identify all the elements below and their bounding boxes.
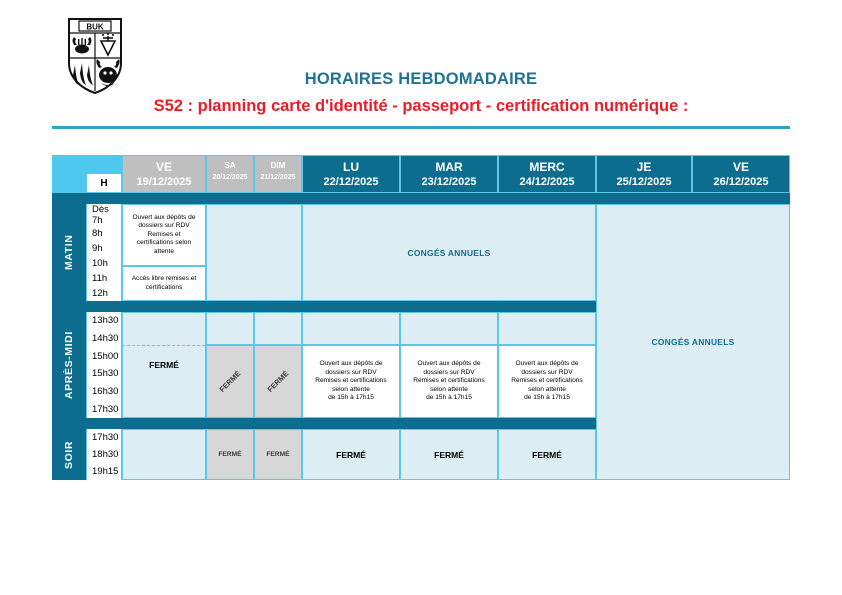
soir-dim-ferme-cell: FERMÉ	[254, 429, 302, 480]
title-main: HORAIRES HEBDOMADAIRE	[0, 70, 842, 89]
line: de 15h à 17h15	[524, 394, 570, 403]
hour-cell: 17h30	[87, 400, 121, 418]
matin-weekend-cell	[206, 204, 302, 301]
header-col-mar-23: MAR 23/12/2025	[400, 155, 498, 193]
soir-mar-ferme-cell: FERMÉ	[400, 429, 498, 480]
pm-merc-ouvert-cell: Ouvert aux dépôts de dossiers sur RDV Re…	[498, 345, 596, 418]
svg-text:BUK: BUK	[86, 23, 104, 32]
soir-ve19-cell	[122, 429, 206, 480]
hour-cell: 12h	[87, 286, 121, 301]
hour-cell: 10h	[87, 256, 121, 271]
ferme-label: FERMÉ	[206, 345, 254, 418]
line: Remises et certifications	[413, 377, 484, 386]
line: Accès libre remises et	[132, 275, 197, 284]
line: Remises et	[148, 231, 181, 240]
soir-label: SOIR	[52, 429, 86, 480]
line: dossiers sur RDV	[325, 369, 376, 378]
pm-sa-ferme-cell: FERMÉ	[206, 345, 254, 418]
hour-column-header: H	[86, 173, 122, 193]
section-label-apres-midi: APRÈS-MIDI	[52, 312, 86, 418]
matin-label: MATIN	[52, 204, 86, 301]
hour-cell: 17h30	[87, 429, 121, 446]
matin-pm-separator-band	[52, 301, 596, 312]
line: certifications selon	[137, 239, 191, 248]
header-date: 19/12/2025	[123, 175, 205, 190]
header-col-sa-20: SA 20/12/2025	[206, 155, 254, 193]
header-day: DIM	[255, 156, 301, 172]
header-date: 24/12/2025	[499, 175, 595, 190]
soir-hour-column: 17h30 18h30 19h15	[86, 429, 122, 480]
line: dossiers sur RDV	[521, 369, 572, 378]
ferme-label: FERMÉ	[123, 313, 205, 417]
hour-cell: 14h30	[87, 330, 121, 348]
header-separator-band	[52, 193, 790, 204]
ferme-label: FERMÉ	[303, 430, 399, 479]
line: Ouvert aux dépôts de	[417, 360, 480, 369]
line: de 15h à 17h15	[328, 394, 374, 403]
conges-annuels-label: CONGÉS ANNUELS	[303, 205, 595, 300]
ferme-label: FERMÉ	[499, 430, 595, 479]
hour-cell: 18h30	[87, 446, 121, 463]
title-divider	[52, 126, 790, 129]
line: certifications	[146, 284, 183, 293]
line: dossiers sur RDV	[138, 222, 189, 231]
pm-sa-top-cell	[206, 312, 254, 345]
hour-cell: 15h30	[87, 365, 121, 383]
pm-lu-top-cell	[302, 312, 400, 345]
header-col-ve-26: VE 26/12/2025	[692, 155, 790, 193]
soir-sa-ferme-cell: FERMÉ	[206, 429, 254, 480]
matin-conges-annuels-cell: CONGÉS ANNUELS	[302, 204, 596, 301]
soir-lu-ferme-cell: FERMÉ	[302, 429, 400, 480]
matin-hour-column: Dès 7h 8h 9h 10h 11h 12h	[86, 204, 122, 301]
line: selon attente	[430, 386, 468, 395]
matin-ve19-libre-cell: Accès libre remises et certifications	[122, 266, 206, 301]
hour-cell: 19h15	[87, 463, 121, 480]
hour-cell: 13h30	[87, 312, 121, 330]
hour-cell: 15h00	[87, 347, 121, 365]
header-day: MAR	[401, 156, 497, 175]
title-subtitle: S52 : planning carte d'identité - passep…	[0, 97, 842, 116]
header-date: 21/12/2025	[255, 172, 301, 183]
header-corner-cyan-top	[52, 155, 122, 173]
header-date: 25/12/2025	[597, 175, 691, 190]
hour-cell: 16h30	[87, 383, 121, 401]
pm-mar-ouvert-text: Ouvert aux dépôts de dossiers sur RDV Re…	[401, 346, 497, 417]
header-day: VE	[123, 156, 205, 175]
section-label-soir: SOIR	[52, 429, 86, 480]
pm-ve19-ferme-cell: FERMÉ	[122, 312, 206, 418]
pm-lu-ouvert-cell: Ouvert aux dépôts de dossiers sur RDV Re…	[302, 345, 400, 418]
pm-mar-top-cell	[400, 312, 498, 345]
ferme-label: FERMÉ	[255, 430, 301, 479]
schedule-page: BUK	[0, 0, 842, 595]
header-date: 23/12/2025	[401, 175, 497, 190]
header-col-je-25: JE 25/12/2025	[596, 155, 692, 193]
pm-soir-separator-band	[52, 418, 596, 429]
header-day: SA	[207, 156, 253, 172]
ferme-label: FERMÉ	[207, 430, 253, 479]
conges-annuels-label: CONGÉS ANNUELS	[597, 205, 789, 479]
conges-annuels-je-ve-block: CONGÉS ANNUELS	[596, 204, 790, 480]
pm-dashed-divider	[122, 345, 596, 346]
matin-ve19-libre-text: Accès libre remises et certifications	[123, 267, 205, 300]
line: Ouvert aux dépôts de	[515, 360, 578, 369]
header-day: LU	[303, 156, 399, 175]
ferme-label: FERMÉ	[254, 345, 302, 418]
ferme-label: FERMÉ	[401, 430, 497, 479]
header-col-ve-19: VE 19/12/2025	[122, 155, 206, 193]
matin-ve19-rdv-cell: Ouvert aux dépôts de dossiers sur RDV Re…	[122, 204, 206, 266]
pm-merc-ouvert-text: Ouvert aux dépôts de dossiers sur RDV Re…	[499, 346, 595, 417]
line: dossiers sur RDV	[423, 369, 474, 378]
line: selon attente	[528, 386, 566, 395]
line: selon attente	[332, 386, 370, 395]
header-date: 22/12/2025	[303, 175, 399, 190]
header-col-merc-24: MERC 24/12/2025	[498, 155, 596, 193]
hour-cell: Dès 7h	[87, 204, 121, 226]
apres-midi-hour-column: 13h30 14h30 15h00 15h30 16h30 17h30	[86, 312, 122, 418]
line: Remises et certifications	[315, 377, 386, 386]
line: Ouvert aux dépôts de	[319, 360, 382, 369]
hour-cell: 8h	[87, 226, 121, 241]
soir-merc-ferme-cell: FERMÉ	[498, 429, 596, 480]
pm-mar-ouvert-cell: Ouvert aux dépôts de dossiers sur RDV Re…	[400, 345, 498, 418]
matin-ve19-rdv-text: Ouvert aux dépôts de dossiers sur RDV Re…	[123, 205, 205, 265]
header-col-lu-22: LU 22/12/2025	[302, 155, 400, 193]
header-day: VE	[693, 156, 789, 175]
hour-cell: 9h	[87, 241, 121, 256]
header-col-dim-21: DIM 21/12/2025	[254, 155, 302, 193]
header-date: 20/12/2025	[207, 172, 253, 183]
line: Ouvert aux dépôts de	[132, 214, 195, 223]
header-date: 26/12/2025	[693, 175, 789, 190]
header-day: MERC	[499, 156, 595, 175]
pm-dim-ferme-cell: FERMÉ	[254, 345, 302, 418]
line: attente	[154, 248, 174, 257]
header-day: JE	[597, 156, 691, 175]
pm-merc-top-cell	[498, 312, 596, 345]
section-label-matin: MATIN	[52, 204, 86, 301]
page-title: HORAIRES HEBDOMADAIRE S52 : planning car…	[0, 70, 842, 116]
schedule-table: H VE 19/12/2025 SA 20/12/2025 DIM 21/12/…	[52, 155, 790, 480]
apres-midi-label: APRÈS-MIDI	[52, 312, 86, 418]
line: de 15h à 17h15	[426, 394, 472, 403]
pm-dim-top-cell	[254, 312, 302, 345]
line: Remises et certifications	[511, 377, 582, 386]
pm-lu-ouvert-text: Ouvert aux dépôts de dossiers sur RDV Re…	[303, 346, 399, 417]
hour-cell: 11h	[87, 271, 121, 286]
